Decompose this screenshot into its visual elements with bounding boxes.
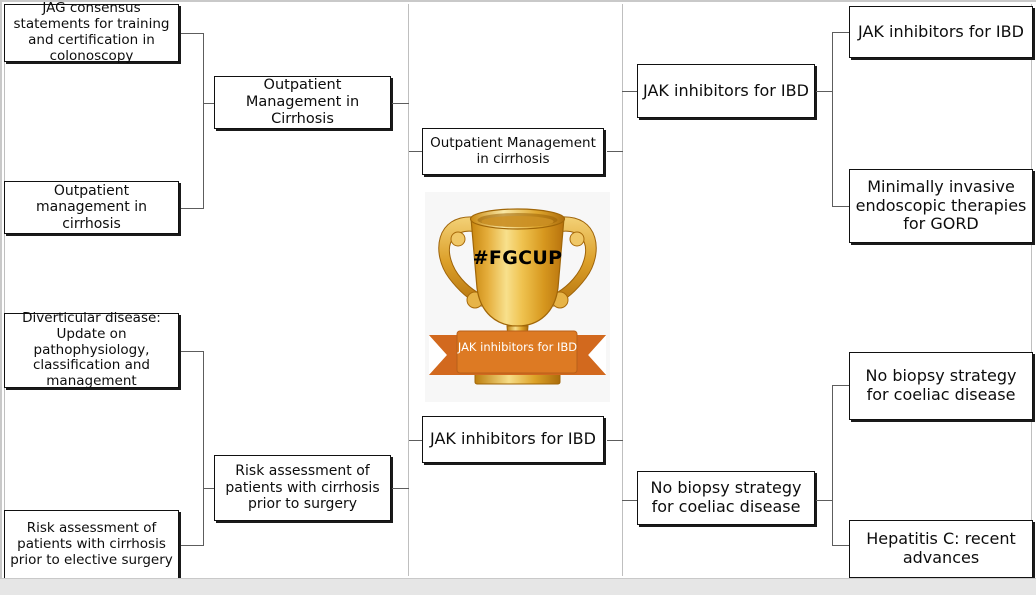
bracket-box-label: Minimally invasive endoscopic therapies … (854, 178, 1028, 235)
bracket-box-label: Outpatient management in cirrhosis (9, 183, 174, 233)
bracket-box-label: JAG consensus statements for training an… (9, 1, 174, 65)
trophy-icon (425, 192, 610, 402)
bracket-box-right-r1-3[interactable]: No biopsy strategy for coeliac disease (849, 352, 1033, 420)
bracket-canvas: JAG consensus statements for training an… (0, 0, 1036, 595)
connector-right-r1-in-3 (832, 385, 850, 386)
bracket-box-left-semi-1[interactable]: Outpatient Management in cirrhosis (422, 128, 604, 175)
connector-left-r1-3 (181, 351, 204, 352)
bracket-box-label: Outpatient Management in cirrhosis (427, 136, 599, 168)
connector-right-r1-in-4 (832, 545, 850, 546)
connector-left-semi-in-lower (409, 440, 423, 441)
connector-left-r1-join-upper (203, 33, 204, 209)
connector-left-r1-join-lower (203, 351, 204, 546)
bracket-box-right-semi-1[interactable]: JAK inhibitors for IBD (637, 64, 815, 118)
bracket-box-label: JAK inhibitors for IBD (854, 23, 1028, 42)
center-spine-left (408, 4, 409, 576)
connector-left-r1-2 (181, 208, 204, 209)
bracket-box-label: Hepatitis C: recent advances (854, 530, 1028, 568)
connector-right-r1-in-2 (832, 206, 850, 207)
connector-right-join-upper (832, 32, 833, 207)
bracket-box-right-r1-4[interactable]: Hepatitis C: recent advances (849, 520, 1033, 578)
bracket-box-left-r1-2[interactable]: Outpatient management in cirrhosis (4, 181, 179, 234)
bracket-box-label: Outpatient Management in Cirrhosis (219, 77, 386, 128)
connector-right-semi-in-lower (622, 500, 638, 501)
bracket-box-left-r1-3[interactable]: Diverticular disease: Update on pathophy… (4, 313, 179, 388)
bracket-box-label: JAK inhibitors for IBD (642, 82, 810, 101)
connector-left-r1-1 (181, 33, 204, 34)
trophy-banner-label: JAK inhibitors for IBD (455, 340, 580, 354)
bottom-strip (0, 578, 1036, 595)
connector-right-r1-in-1 (832, 32, 850, 33)
bracket-box-left-r2-1[interactable]: Outpatient Management in Cirrhosis (214, 76, 391, 129)
bracket-box-label: No biopsy strategy for coeliac disease (854, 367, 1028, 405)
bracket-box-label: Risk assessment of patients with cirrhos… (219, 463, 386, 513)
bracket-box-left-r1-4[interactable]: Risk assessment of patients with cirrhos… (4, 510, 179, 580)
connector-right-semi-out-lower (607, 440, 623, 441)
bracket-box-label: Risk assessment of patients with cirrhos… (9, 521, 174, 569)
bracket-box-left-r1-1[interactable]: JAG consensus statements for training an… (4, 4, 179, 62)
connector-left-r2-out-upper (392, 103, 409, 104)
connector-right-semi-out-1 (816, 91, 833, 92)
bracket-box-right-r1-1[interactable]: JAK inhibitors for IBD (849, 6, 1033, 58)
connector-right-semi-out-upper (607, 151, 623, 152)
connector-right-join-lower (832, 385, 833, 546)
bracket-box-right-r1-2[interactable]: Minimally invasive endoscopic therapies … (849, 169, 1033, 243)
edge-spine-right (1031, 4, 1032, 576)
bracket-box-label: No biopsy strategy for coeliac disease (642, 479, 810, 517)
bracket-box-left-r2-2[interactable]: Risk assessment of patients with cirrhos… (214, 455, 391, 521)
trophy-cup-label: #FGCUP (425, 247, 610, 269)
connector-right-semi-out-2 (816, 500, 833, 501)
bracket-box-label: JAK inhibitors for IBD (427, 430, 599, 449)
trophy-card: #FGCUP JAK inhibitors for IBD (425, 192, 610, 402)
bracket-box-right-semi-2[interactable]: No biopsy strategy for coeliac disease (637, 471, 815, 525)
connector-left-semi-in-upper (409, 151, 423, 152)
connector-right-semi-in-upper (622, 91, 638, 92)
bracket-box-label: Diverticular disease: Update on pathophy… (9, 311, 174, 391)
bracket-box-left-semi-2[interactable]: JAK inhibitors for IBD (422, 416, 604, 463)
connector-left-r1-4 (181, 545, 204, 546)
edge-spine-left (4, 4, 5, 576)
center-spine-right (622, 4, 623, 576)
connector-left-r2-out-lower (392, 488, 409, 489)
